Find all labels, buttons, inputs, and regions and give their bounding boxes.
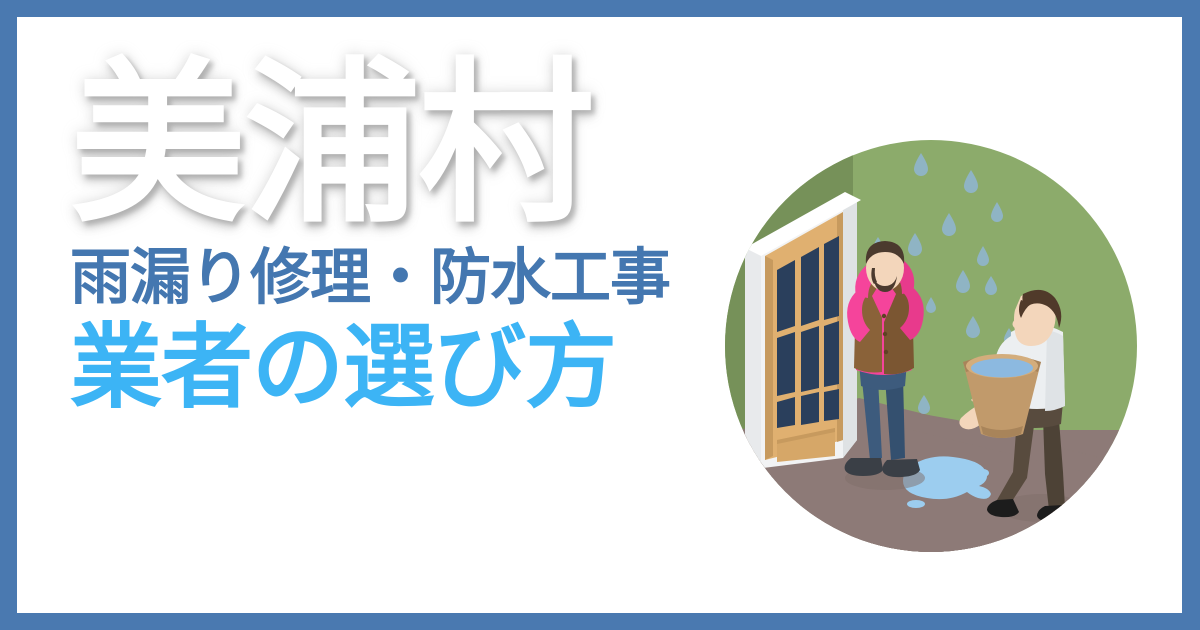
roof-leak-illustration xyxy=(725,140,1137,552)
headline-block: 美浦村 雨漏り修理・防水工事 業者の選び方 xyxy=(70,57,710,414)
door-glass-pane xyxy=(777,332,795,396)
vest-button xyxy=(883,332,887,336)
bucket-water xyxy=(971,359,1033,378)
puddle-splash xyxy=(907,500,925,508)
region-title: 美浦村 xyxy=(70,57,710,233)
door-glass-pane xyxy=(824,236,839,320)
card-border: 美浦村 雨漏り修理・防水工事 業者の選び方 xyxy=(0,0,1200,630)
vest-button xyxy=(882,314,886,318)
door-glass-pane xyxy=(801,247,819,326)
puddle-splash xyxy=(977,469,989,477)
door-glass-pane xyxy=(824,389,839,421)
shoe-left xyxy=(845,458,883,476)
door-glass-pane xyxy=(801,392,819,425)
service-subtitle: 雨漏り修理・防水工事 xyxy=(70,247,710,308)
vest-button xyxy=(884,350,888,354)
door-glass-pane xyxy=(824,321,839,387)
card-canvas: 美浦村 雨漏り修理・防水工事 業者の選び方 xyxy=(17,17,1182,613)
door-glass-pane xyxy=(777,397,795,428)
shirt-shade xyxy=(1045,330,1065,411)
topic-title: 業者の選び方 xyxy=(70,322,710,414)
door-glass-pane xyxy=(777,260,795,332)
shoe-right xyxy=(883,459,921,477)
door-glass-pane xyxy=(801,326,819,392)
